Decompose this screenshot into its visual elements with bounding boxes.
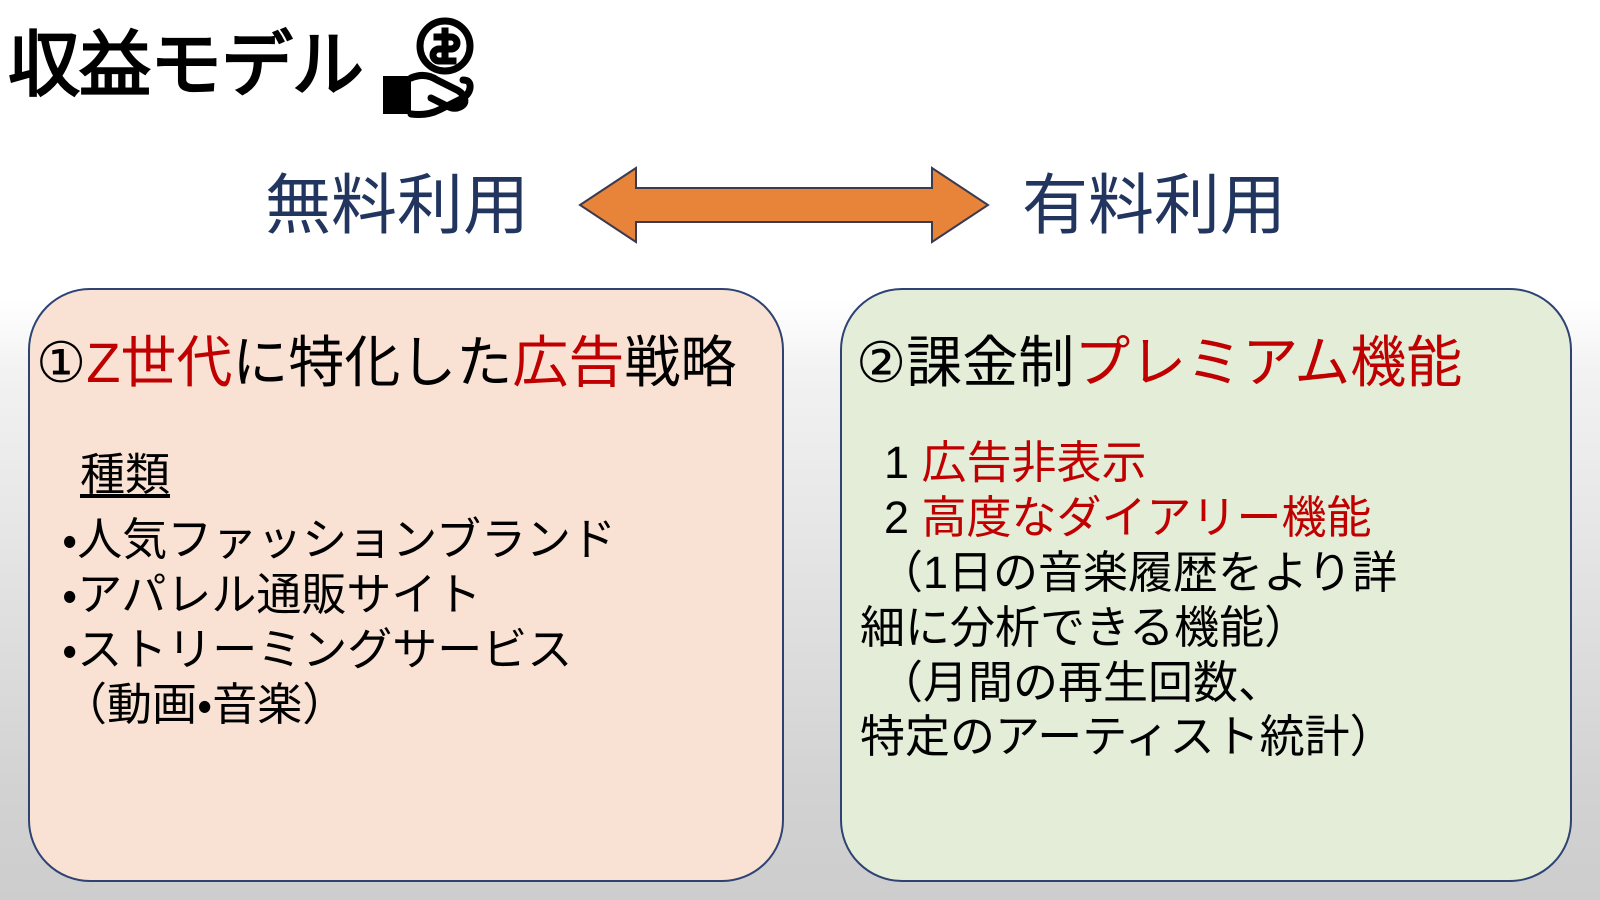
hand-holding-money-icon bbox=[377, 14, 487, 124]
card-free-title: ①Z世代に特化した広告戦略 bbox=[30, 332, 784, 395]
card-free-title-text-2: 戦略 bbox=[624, 331, 736, 394]
card-free-body: 種類 ・人気ファッションブランド ・アパレル通販サイト ・ストリーミングサービス… bbox=[30, 448, 784, 732]
card-paid-note: （月間の再生回数、 bbox=[860, 656, 1572, 711]
card-paid-title-number: ② bbox=[856, 331, 906, 394]
card-paid-note: 細に分析できる機能） bbox=[860, 601, 1572, 656]
slide-title-row: 収益モデル bbox=[8, 8, 487, 124]
card-paid-body: 1 広告非表示 2 高度なダイアリー機能 （1日の音楽履歴をより詳 細に分析でき… bbox=[842, 436, 1572, 765]
free-usage-label: 無料利用 bbox=[265, 150, 529, 260]
card-paid-note: 特定のアーティスト統計） bbox=[860, 710, 1572, 765]
card-paid-title: ②課金制プレミアム機能 bbox=[842, 332, 1572, 395]
list-item: ・アパレル通販サイト bbox=[62, 568, 784, 623]
card-free-title-highlight-2: 広告 bbox=[512, 331, 624, 394]
comparison-header: 無料利用 有料利用 bbox=[0, 150, 1600, 260]
card-paid-note: （1日の音楽履歴をより詳 bbox=[860, 546, 1572, 601]
list-item: ・ストリーミングサービス bbox=[62, 623, 784, 678]
card-free-title-number: ① bbox=[36, 331, 86, 394]
double-headed-arrow-icon bbox=[578, 164, 990, 246]
list-item-number: 2 bbox=[884, 492, 909, 543]
card-free-ad-strategy: ①Z世代に特化した広告戦略 種類 ・人気ファッションブランド ・アパレル通販サイ… bbox=[28, 288, 784, 882]
list-item: 1 広告非表示 bbox=[860, 436, 1572, 491]
card-free-title-text-1: に特化した bbox=[232, 331, 512, 394]
paid-usage-label: 有料利用 bbox=[1022, 150, 1286, 260]
card-paid-title-highlight: プレミアム機能 bbox=[1074, 331, 1462, 394]
card-paid-title-text-1: 課金制 bbox=[906, 331, 1074, 394]
card-free-title-highlight-1: Z世代 bbox=[86, 331, 232, 394]
kinds-heading: 種類 bbox=[80, 448, 170, 503]
card-paid-premium-features: ②課金制プレミアム機能 1 広告非表示 2 高度なダイアリー機能 （1日の音楽履… bbox=[840, 288, 1572, 882]
list-item-number: 1 bbox=[884, 437, 909, 488]
list-item: ・人気ファッションブランド bbox=[62, 513, 784, 568]
page-title: 収益モデル bbox=[8, 30, 363, 102]
card-free-note: （動画・音楽） bbox=[62, 678, 784, 733]
list-item-label: 広告非表示 bbox=[922, 437, 1147, 488]
slide-canvas: 収益モデル 無料利用 有料利用 ①Z世代に特化した広告戦略 bbox=[0, 0, 1600, 900]
list-item: 2 高度なダイアリー機能 bbox=[860, 491, 1572, 546]
list-item-label: 高度なダイアリー機能 bbox=[922, 492, 1372, 543]
